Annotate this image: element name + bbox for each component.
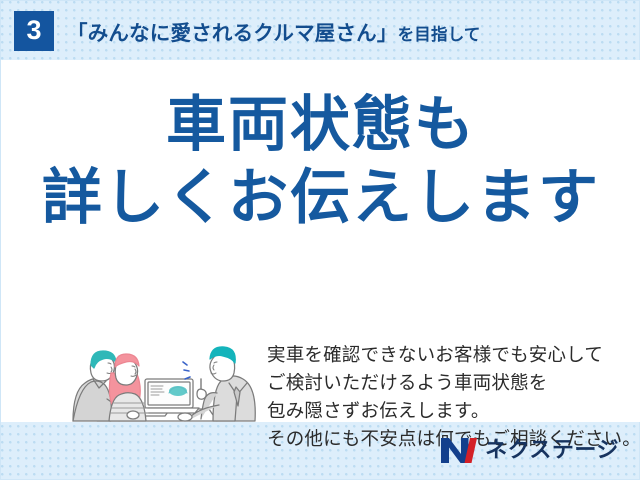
body-copy-line-2: ご検討いただけるよう車両状態を: [267, 369, 637, 397]
content-panel: 車両状態も 詳しくお伝えします: [1, 60, 640, 422]
section-number-badge: 3: [14, 11, 54, 51]
headline: 車両状態も 詳しくお伝えします: [1, 93, 640, 231]
header-title-suffix: を目指して: [398, 26, 481, 44]
advertisement-page: 3 「みんなに愛されるクルマ屋さん」を目指して 車両状態も 詳しくお伝えします: [0, 0, 640, 480]
footer-bar: ネクステージ: [1, 422, 640, 481]
headline-line-1: 車両状態も: [1, 93, 640, 158]
nextage-logo: ネクステージ: [440, 434, 619, 466]
header-bar: 3 「みんなに愛されるクルマ屋さん」を目指して: [1, 1, 640, 60]
body-copy-line-1: 実車を確認できないお客様でも安心して: [267, 341, 637, 369]
header-title: 「みんなに愛されるクルマ屋さん」を目指して: [67, 16, 481, 46]
nextage-logo-text: ネクステージ: [485, 439, 619, 461]
headline-line-2: 詳しくお伝えします: [1, 166, 640, 231]
lower-content: 実車を確認できないお客様でも安心して ご検討いただけるよう車両状態を 包み隠さず…: [1, 275, 640, 415]
header-title-quoted: 「みんなに愛されるクルマ屋さん」: [67, 22, 398, 45]
nextage-n-mark-icon: [440, 437, 478, 464]
consultation-illustration: [59, 329, 264, 437]
